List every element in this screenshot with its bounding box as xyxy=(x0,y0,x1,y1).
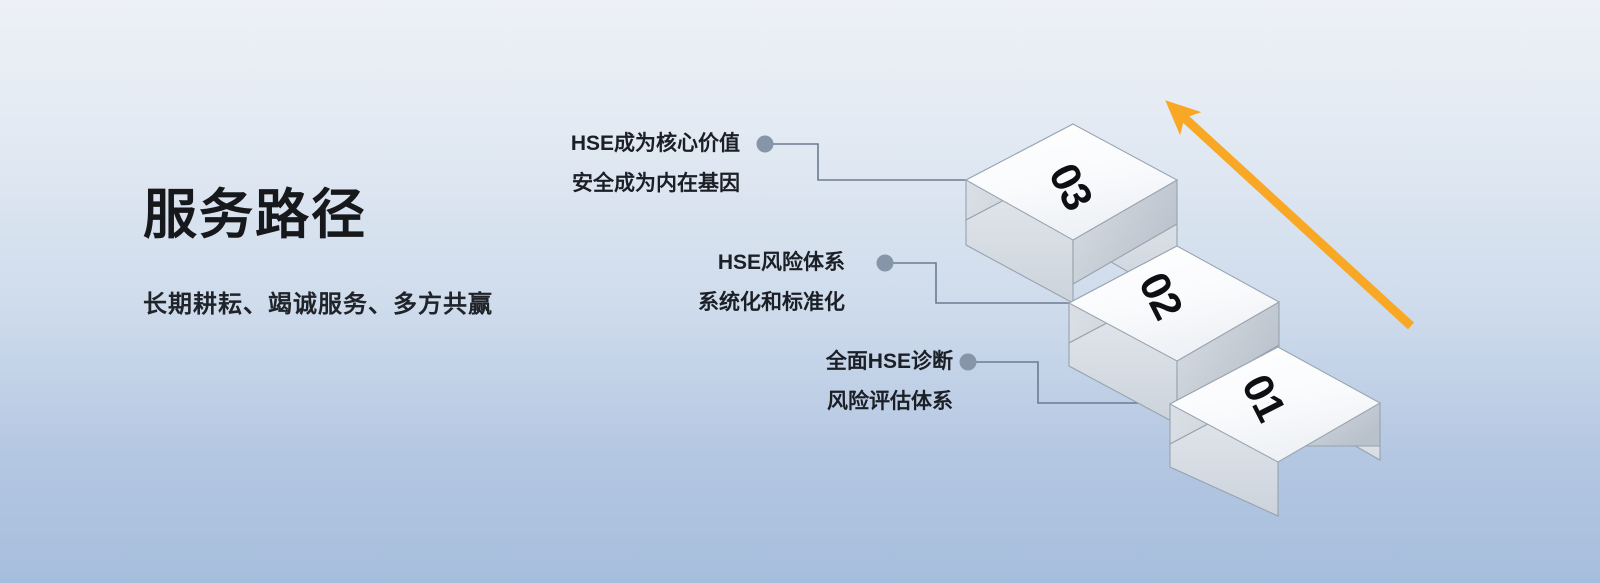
connector-dot-02 xyxy=(877,255,894,272)
callout-label-02: HSE风险体系 系统化和标准化 xyxy=(530,252,845,313)
callout-02-line1: HSE风险体系 xyxy=(530,252,845,273)
connector-dot-03 xyxy=(757,136,774,153)
callout-01-line1: 全面HSE诊断 xyxy=(650,351,953,372)
slide-canvas: 服务路径 长期耕耘、竭诚服务、多方共赢 xyxy=(0,0,1600,583)
callout-03-line1: HSE成为核心价值 xyxy=(410,133,740,154)
callout-label-03: HSE成为核心价值 安全成为内在基因 xyxy=(410,133,740,194)
callout-label-01: 全面HSE诊断 风险评估体系 xyxy=(650,351,953,412)
callout-02-line2: 系统化和标准化 xyxy=(530,292,845,313)
callout-03-line2: 安全成为内在基因 xyxy=(410,173,740,194)
connector-dot-01 xyxy=(960,354,977,371)
connector-line-03 xyxy=(773,144,985,180)
callout-01-line2: 风险评估体系 xyxy=(650,391,953,412)
